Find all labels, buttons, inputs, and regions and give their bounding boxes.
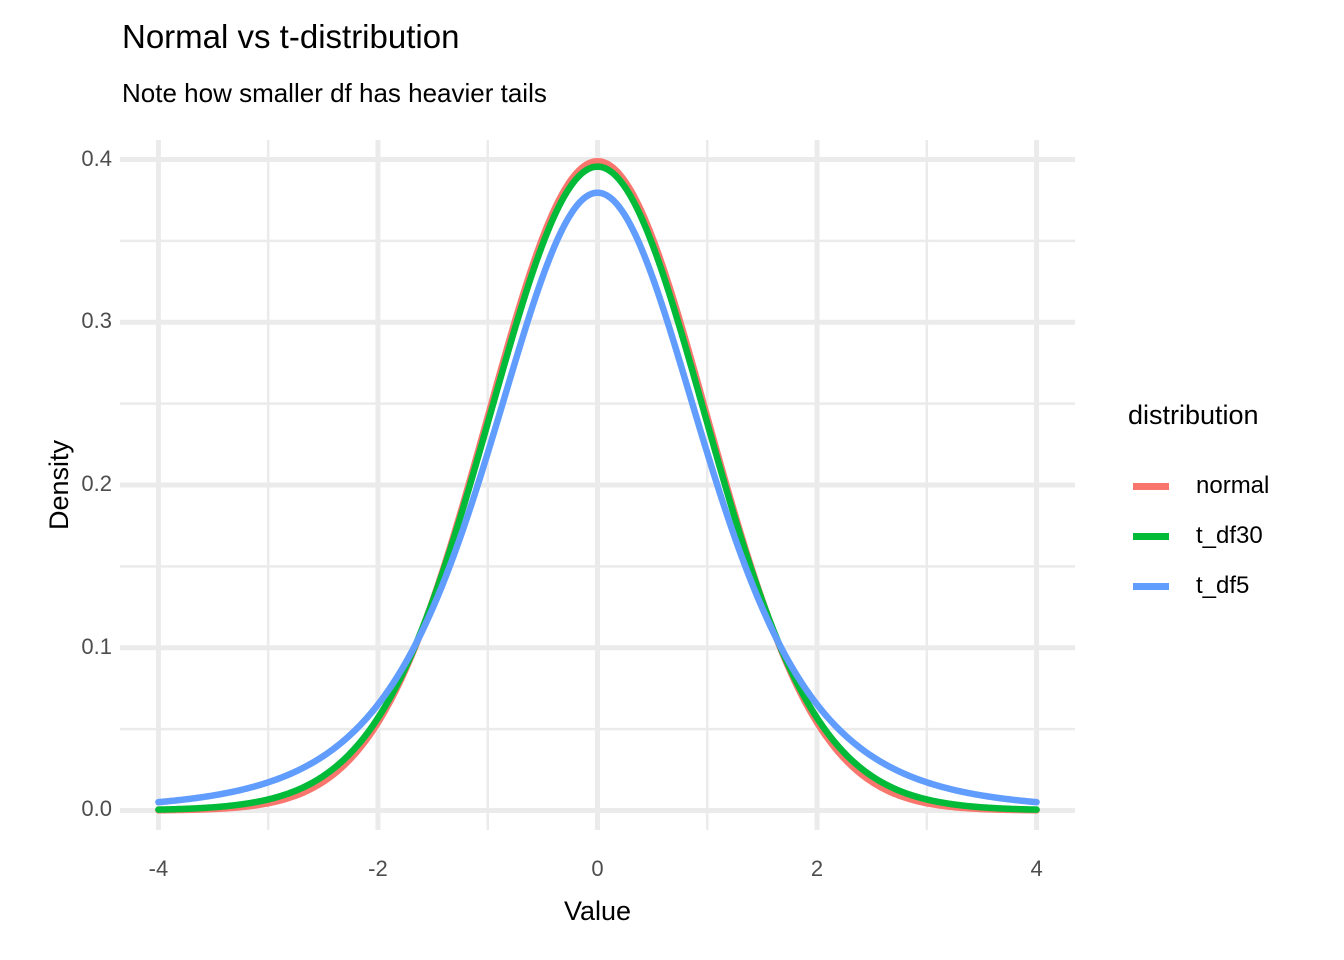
legend-line-icon xyxy=(1133,533,1169,540)
x-tick-label: -4 xyxy=(118,856,198,882)
legend-item-normal[interactable]: normal xyxy=(1128,461,1328,511)
legend-key-swatch xyxy=(1128,564,1174,608)
y-axis-title: Density xyxy=(44,140,75,830)
legend-key-swatch xyxy=(1128,514,1174,558)
chart-panel xyxy=(120,140,1075,830)
legend-label: t_df30 xyxy=(1196,522,1263,550)
chart-canvas xyxy=(120,140,1075,830)
x-tick-label: 4 xyxy=(997,856,1077,882)
legend-line-icon xyxy=(1133,583,1169,590)
x-tick-label: 2 xyxy=(777,856,857,882)
chart-legend: distribution normalt_df30t_df5 xyxy=(1128,400,1328,611)
legend-item-t_df30[interactable]: t_df30 xyxy=(1128,511,1328,561)
x-tick-label: -2 xyxy=(338,856,418,882)
legend-item-t_df5[interactable]: t_df5 xyxy=(1128,561,1328,611)
legend-title: distribution xyxy=(1128,400,1328,431)
chart-plot-root: Normal vs t-distribution Note how smalle… xyxy=(0,0,1344,960)
legend-label: normal xyxy=(1196,472,1269,500)
chart-subtitle: Note how smaller df has heavier tails xyxy=(122,78,547,108)
x-axis-tick-labels: -4-2024 xyxy=(0,856,1344,886)
legend-key-swatch xyxy=(1128,464,1174,508)
x-axis-title: Value xyxy=(120,896,1075,927)
x-tick-label: 0 xyxy=(558,856,638,882)
legend-item-list: normalt_df30t_df5 xyxy=(1128,461,1328,611)
legend-line-icon xyxy=(1133,483,1169,490)
chart-title: Normal vs t-distribution xyxy=(122,18,459,56)
legend-label: t_df5 xyxy=(1196,572,1249,600)
